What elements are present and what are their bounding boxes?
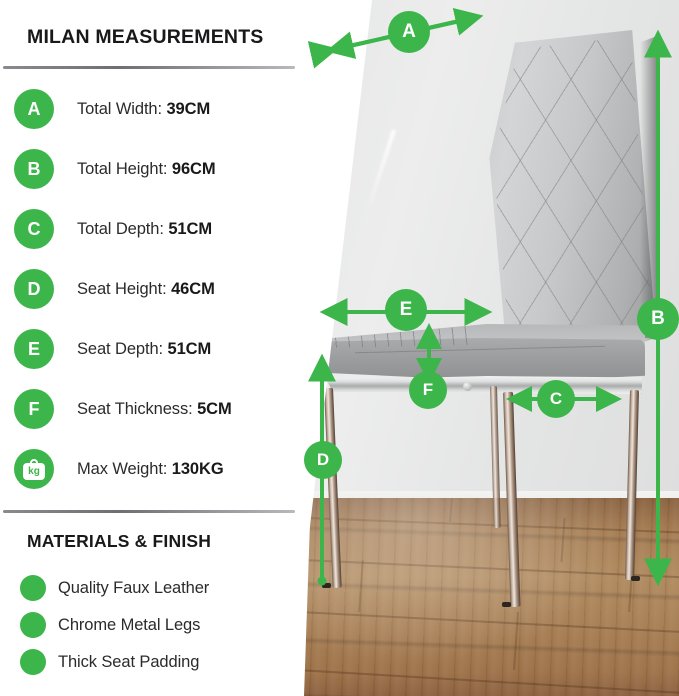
material-label-faux-leather: Quality Faux Leather <box>58 579 209 598</box>
badge-c: C <box>14 209 54 249</box>
spec-row-total-width: A Total Width: 39CM <box>14 88 294 130</box>
chair-leg-back-left <box>490 386 501 528</box>
frame-bolt <box>463 382 472 391</box>
divider-middle <box>3 510 295 513</box>
specification-panel: MILAN MEASUREMENTS A Total Width: 39CM B… <box>0 0 300 696</box>
spec-label-max-weight: Max Weight: <box>77 460 167 478</box>
badge-d-label: D <box>28 280 41 298</box>
spec-row-max-weight: kg Max Weight: 130KG <box>14 448 294 490</box>
chair-leg-back-right <box>625 390 639 580</box>
divider-top <box>3 66 295 69</box>
chair-foot-front-right <box>502 602 511 607</box>
spec-label-seat-height: Seat Height: <box>77 280 167 298</box>
chair-backrest <box>486 30 656 350</box>
spec-text-seat-thickness: Seat Thickness: 5CM <box>77 400 232 419</box>
material-row-chrome-legs: Chrome Metal Legs <box>20 610 200 640</box>
chair-leg-front-left <box>324 388 342 588</box>
spec-value-seat-depth: 51CM <box>168 340 212 358</box>
kg-unit-label: kg <box>23 464 45 479</box>
chair-foot-back-right <box>631 576 640 581</box>
spec-row-seat-depth: E Seat Depth: 51CM <box>14 328 294 370</box>
chair-photo: A B C D E F <box>300 0 679 696</box>
bullet-dot-icon <box>20 649 46 675</box>
bullet-dot-icon <box>20 575 46 601</box>
spec-text-total-height: Total Height: 96CM <box>77 160 216 179</box>
kg-bag-icon: kg <box>23 459 45 480</box>
badge-a: A <box>14 89 54 129</box>
material-row-faux-leather: Quality Faux Leather <box>20 573 209 603</box>
spec-text-total-width: Total Width: 39CM <box>77 100 210 119</box>
spec-label-total-height: Total Height: <box>77 160 167 178</box>
spec-label-total-width: Total Width: <box>77 100 162 118</box>
spec-label-total-depth: Total Depth: <box>77 220 164 238</box>
material-label-seat-padding: Thick Seat Padding <box>58 653 199 672</box>
spec-text-seat-depth: Seat Depth: 51CM <box>77 340 211 359</box>
chair-leg-front-right <box>503 392 520 607</box>
materials-heading: MATERIALS & FINISH <box>27 531 211 552</box>
backrest-shadow-edge <box>640 36 656 343</box>
spec-row-seat-height: D Seat Height: 46CM <box>14 268 294 310</box>
product-measurement-infographic: A B C D E F MILAN MEASUREMENTS A Total W… <box>0 0 679 696</box>
spec-value-total-width: 39CM <box>166 100 210 118</box>
spec-text-total-depth: Total Depth: 51CM <box>77 220 212 239</box>
spec-value-total-depth: 51CM <box>168 220 212 238</box>
spec-row-total-height: B Total Height: 96CM <box>14 148 294 190</box>
badge-d: D <box>14 269 54 309</box>
seat-ribbing <box>323 326 473 348</box>
chair-foot-front-left <box>322 583 331 588</box>
spec-label-seat-thickness: Seat Thickness: <box>77 400 193 418</box>
material-row-seat-padding: Thick Seat Padding <box>20 647 199 677</box>
badge-e: E <box>14 329 54 369</box>
badge-e-label: E <box>28 340 40 358</box>
spec-value-seat-thickness: 5CM <box>197 400 232 418</box>
badge-b: B <box>14 149 54 189</box>
spec-row-total-depth: C Total Depth: 51CM <box>14 208 294 250</box>
spec-value-total-height: 96CM <box>172 160 216 178</box>
bullet-dot-icon <box>20 612 46 638</box>
weight-kg-icon: kg <box>14 449 54 489</box>
spec-label-seat-depth: Seat Depth: <box>77 340 163 358</box>
spec-text-max-weight: Max Weight: 130KG <box>77 460 224 479</box>
spec-text-seat-height: Seat Height: 46CM <box>77 280 215 299</box>
badge-f: F <box>14 389 54 429</box>
spec-value-seat-height: 46CM <box>171 280 215 298</box>
badge-a-label: A <box>28 100 41 118</box>
material-label-chrome-legs: Chrome Metal Legs <box>58 616 200 635</box>
badge-b-label: B <box>28 160 41 178</box>
spec-value-max-weight: 130KG <box>172 460 224 478</box>
spec-row-seat-thickness: F Seat Thickness: 5CM <box>14 388 294 430</box>
badge-f-label: F <box>29 400 40 418</box>
measurements-heading: MILAN MEASUREMENTS <box>27 26 264 49</box>
badge-c-label: C <box>28 220 41 238</box>
